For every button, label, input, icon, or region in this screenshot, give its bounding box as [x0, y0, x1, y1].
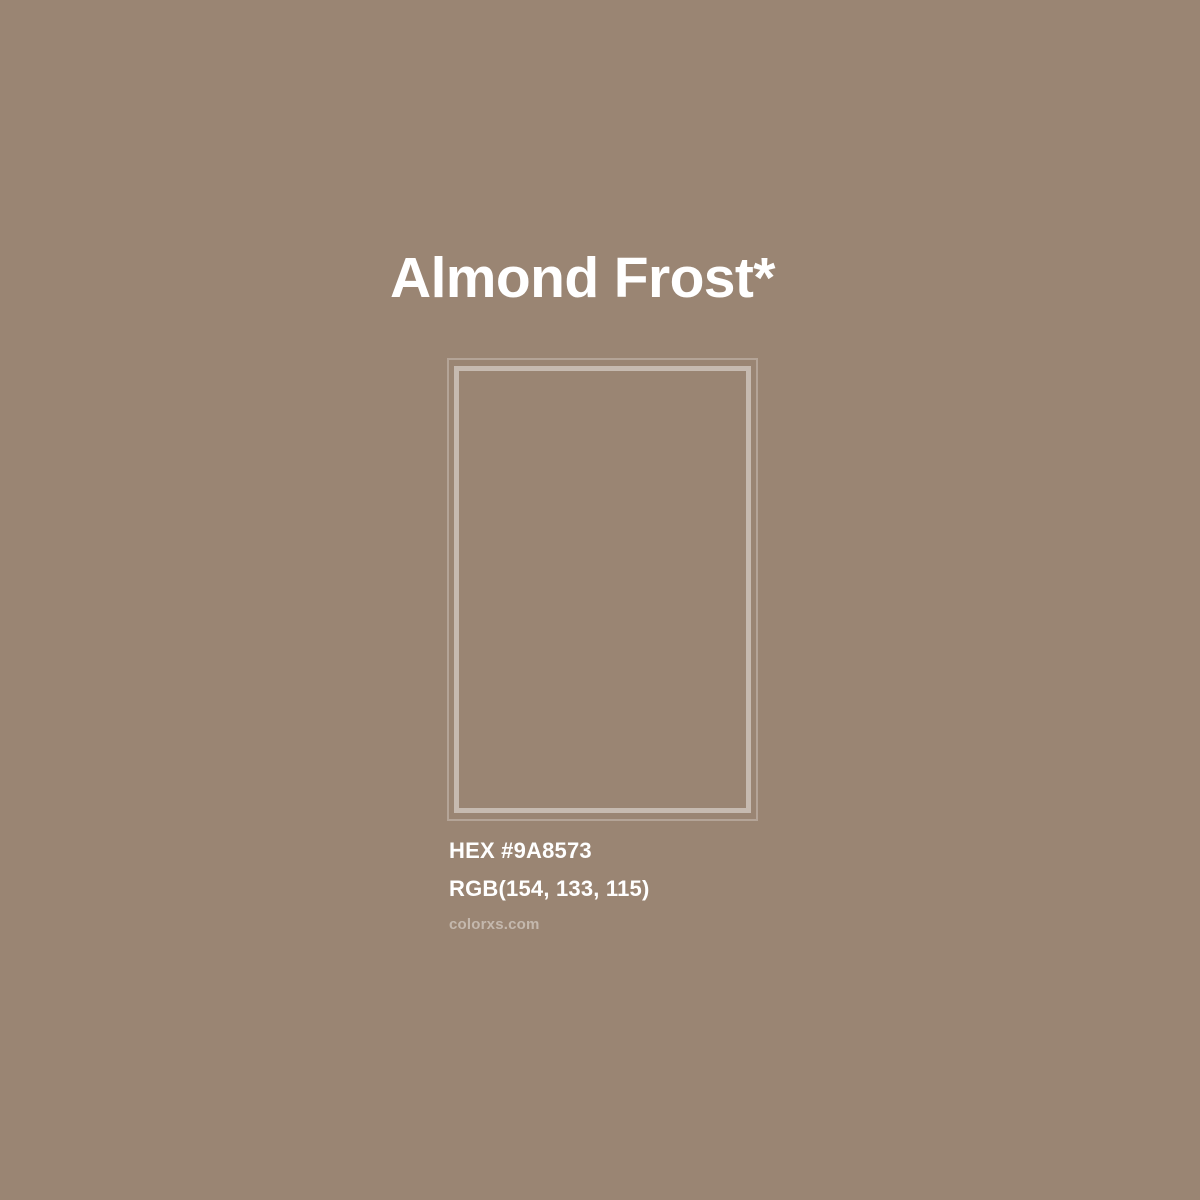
site-watermark: colorxs.com [449, 916, 909, 934]
swatch-inner-frame [454, 366, 751, 813]
color-swatch [0, 0, 1200, 1200]
page-title: Almond Frost* [390, 246, 775, 310]
swatch-color-fill [459, 371, 746, 808]
color-meta-block: HEX #9A8573 RGB(154, 133, 115) colorxs.c… [449, 832, 909, 934]
swatch-outer-frame [447, 358, 758, 821]
rgb-value-label: RGB(154, 133, 115) [449, 870, 909, 908]
color-page: Almond Frost* HEX #9A8573 RGB(154, 133, … [0, 0, 1200, 1200]
hex-value-label: HEX #9A8573 [449, 832, 909, 870]
